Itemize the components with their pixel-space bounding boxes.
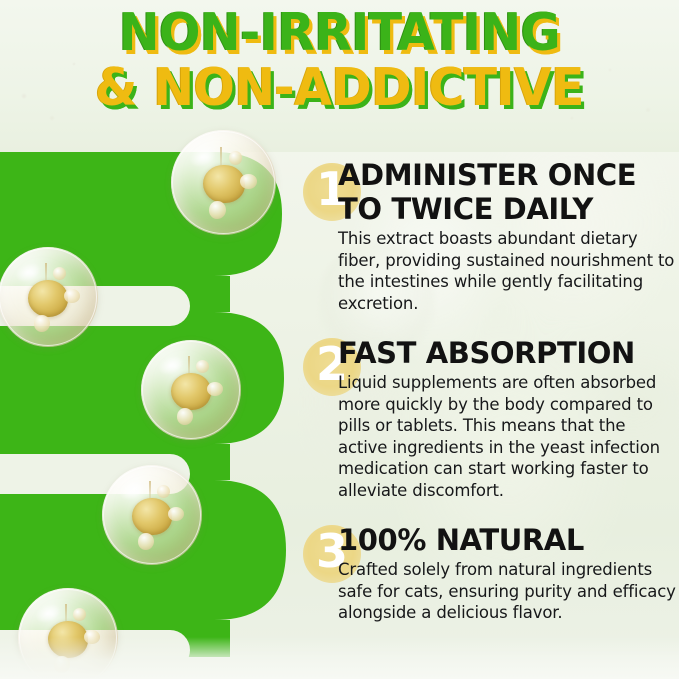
step-title: FAST ABSORPTION	[300, 336, 679, 370]
step-description: This extract boasts abundant dietary fib…	[300, 228, 679, 314]
infographic-panel: NON-IRRITATING & NON-ADDICTIVE 1 ADMINIS…	[0, 0, 679, 679]
step-title: 100% NATURAL	[300, 523, 679, 557]
headline: NON-IRRITATING & NON-ADDICTIVE	[0, 8, 679, 114]
step-item: 2 FAST ABSORPTION Liquid supplements are…	[300, 336, 679, 501]
oil-bubble	[102, 465, 202, 565]
steps-list: 1 ADMINISTER ONCE TO TWICE DAILY This ex…	[300, 158, 679, 624]
step-body: FAST ABSORPTION Liquid supplements are o…	[300, 336, 679, 501]
step-body: 100% NATURAL Crafted solely from natural…	[300, 523, 679, 624]
step-body: ADMINISTER ONCE TO TWICE DAILY This extr…	[300, 158, 679, 314]
bubble-rim	[0, 248, 97, 346]
oil-bubble	[141, 340, 241, 440]
bubble-rim	[172, 131, 275, 234]
step-description: Liquid supplements are often absorbed mo…	[300, 372, 679, 501]
step-title: ADMINISTER ONCE TO TWICE DAILY	[300, 158, 679, 226]
bubble-rim	[142, 341, 240, 439]
oil-bubble	[171, 130, 276, 235]
oil-bubble	[0, 247, 98, 347]
step-description: Crafted solely from natural ingredients …	[300, 559, 679, 624]
headline-line-1: NON-IRRITATING	[0, 8, 679, 59]
background-bottom-fade	[0, 637, 679, 679]
step-item: 1 ADMINISTER ONCE TO TWICE DAILY This ex…	[300, 158, 679, 314]
step-item: 3 100% NATURAL Crafted solely from natur…	[300, 523, 679, 624]
headline-line-2: & NON-ADDICTIVE	[0, 63, 679, 114]
bubble-rim	[103, 466, 201, 564]
